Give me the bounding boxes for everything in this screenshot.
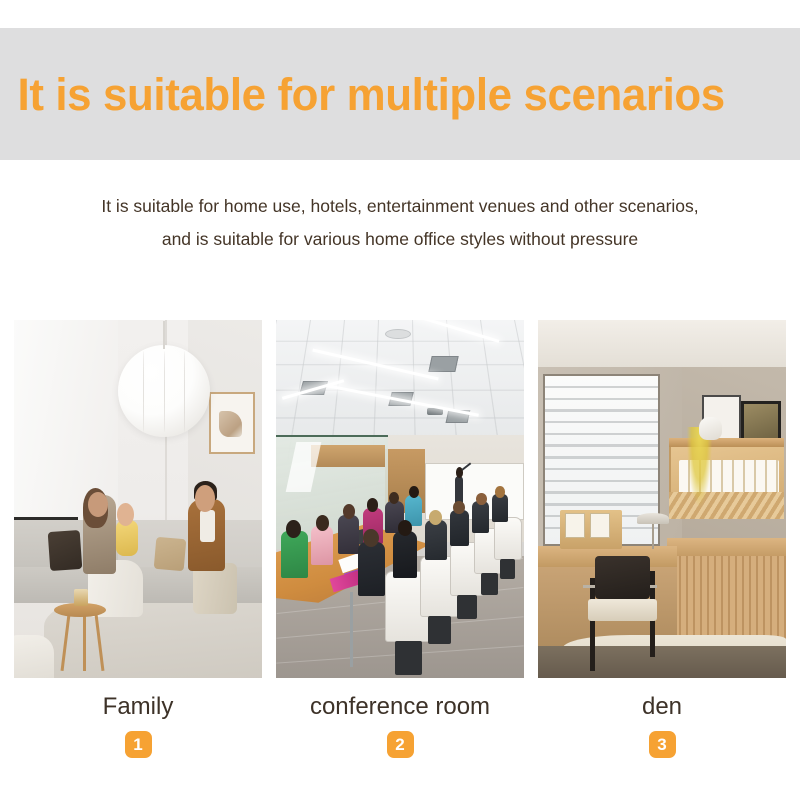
attendee-back — [358, 542, 385, 596]
attendee-head — [476, 493, 487, 506]
page-title: It is suitable for multiple scenarios — [0, 72, 780, 117]
attendee-back — [425, 520, 447, 559]
cushion-tan — [154, 537, 186, 572]
paper-lantern-icon — [118, 345, 210, 437]
card-badge-2: 2 — [387, 731, 414, 758]
subtitle-line-2: and is suitable for various home office … — [30, 223, 770, 256]
blind-slat — [545, 503, 658, 505]
baby-head — [117, 503, 134, 526]
woman-head — [88, 492, 108, 517]
table-leg — [350, 592, 353, 667]
glass-cup-icon — [74, 589, 89, 607]
blind-slat — [545, 480, 658, 482]
easel-photo-card — [590, 513, 610, 538]
man-legs — [193, 563, 238, 613]
photo-family-living-room — [14, 320, 262, 678]
photo-conference-room — [276, 320, 524, 678]
desk-lamp-icon — [637, 513, 669, 524]
attendee-body — [311, 526, 333, 565]
wood-wall-panel — [311, 445, 385, 466]
card-badge-1: 1 — [125, 731, 152, 758]
desk-lamp-stem — [652, 524, 654, 549]
man-head — [195, 485, 215, 512]
card-label-conference-room: conference room — [310, 692, 490, 722]
shelf-slat-panel — [669, 492, 783, 519]
ceiling-vent — [428, 356, 459, 372]
card-label-family: Family — [103, 692, 174, 722]
subtitle-line-1: It is suitable for home use, hotels, ent… — [30, 190, 770, 223]
ceiling-speaker-icon — [385, 329, 411, 339]
easel-photo-card — [565, 513, 585, 538]
promo-page: It is suitable for multiple scenarios It… — [0, 0, 800, 800]
vase-icon — [699, 417, 721, 440]
blind-slat — [545, 409, 658, 411]
blind-slat — [545, 444, 658, 446]
attendee-back — [492, 494, 508, 523]
subtitle-block: It is suitable for home use, hotels, ent… — [0, 190, 800, 256]
scenario-card-den[interactable]: den 3 — [538, 320, 786, 780]
blind-slat — [545, 491, 658, 493]
ottoman — [14, 635, 54, 678]
scenario-card-family[interactable]: Family 1 — [14, 320, 262, 780]
blind-slat — [545, 386, 658, 388]
floor — [538, 646, 786, 678]
blind-slat — [545, 421, 658, 423]
bench-top — [667, 538, 786, 556]
scenario-cards-row: Family 1 — [14, 320, 786, 780]
scenario-card-conference-room[interactable]: conference room 2 — [276, 320, 524, 780]
ceiling — [538, 320, 786, 370]
attendee-back — [393, 531, 418, 578]
side-table-leg — [83, 614, 86, 671]
framed-art-icon — [209, 392, 255, 454]
card-label-den: den — [642, 692, 682, 722]
office-chair[interactable] — [494, 517, 521, 560]
lantern-rib — [143, 351, 144, 432]
photo-den-home-office — [538, 320, 786, 678]
lantern-rib — [184, 351, 185, 432]
cushion-dark — [47, 530, 82, 572]
blind-slat — [545, 456, 658, 458]
attendee-back — [450, 510, 470, 546]
attendee-body — [281, 531, 308, 578]
attendee-head — [409, 486, 419, 498]
attendee-head — [495, 486, 505, 497]
blind-slat — [545, 433, 658, 435]
attendee-head — [286, 520, 301, 538]
framed-art-dark-icon — [741, 401, 781, 444]
header-banner: It is suitable for multiple scenarios — [0, 28, 800, 160]
attendee-body — [338, 515, 359, 554]
blind-slat — [545, 398, 658, 400]
card-badge-3: 3 — [649, 731, 676, 758]
attendee-back — [472, 501, 489, 533]
attendee-head — [367, 498, 378, 512]
blind-slat — [545, 468, 658, 470]
chair-backrest — [595, 556, 650, 599]
chair-seat — [588, 599, 657, 620]
man-shirt — [200, 510, 215, 542]
lantern-rib — [164, 351, 165, 432]
